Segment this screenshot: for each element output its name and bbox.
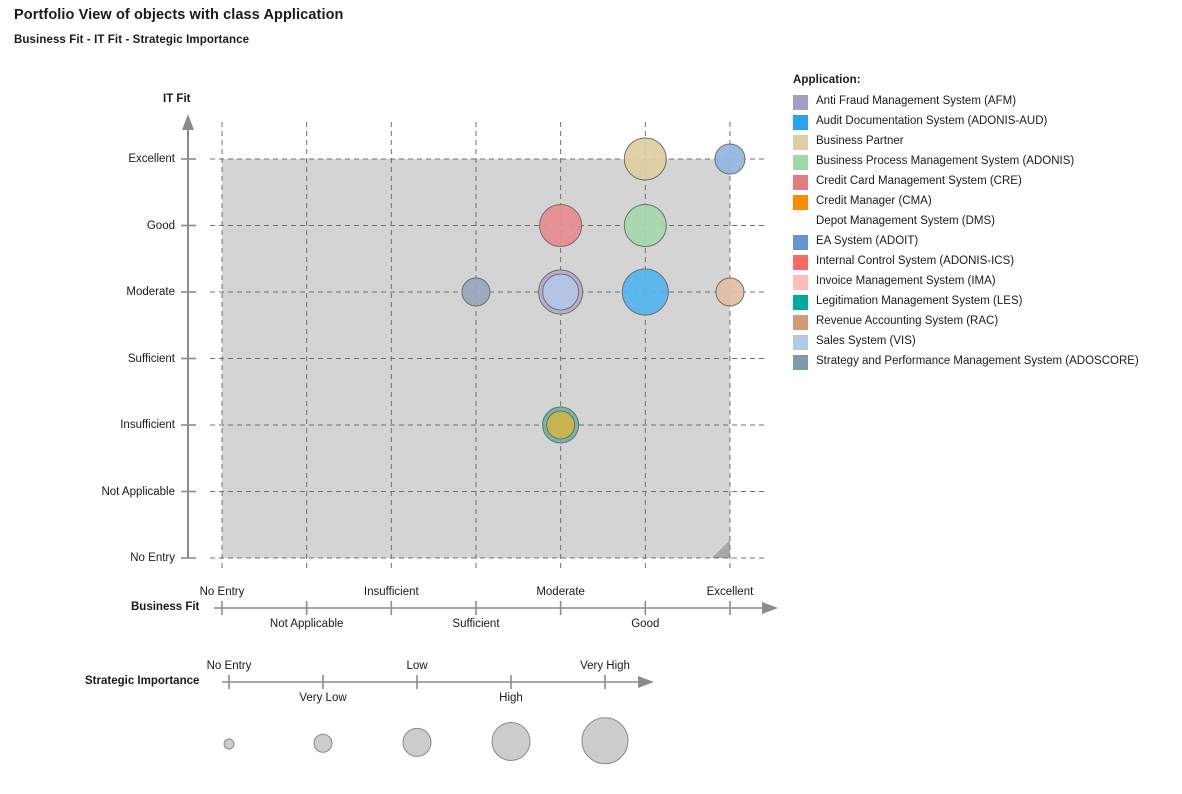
strategic-importance-tick-label: Very High [580,660,630,672]
legend-color-swatch [793,95,808,110]
size-legend-bubbles [224,718,628,764]
legend-item[interactable]: Credit Manager (CMA) [793,192,1173,212]
it-fit-tick-label: Moderate [126,286,175,298]
strategic-importance-tick-label: No Entry [207,660,252,672]
it-fit-tick-label: No Entry [130,552,175,564]
chart-bubble[interactable]: Strategy and Performance Management Syst… [462,278,490,306]
application-legend: Application: Anti Fraud Management Syste… [793,74,1173,372]
strategic-importance-axis-title: Strategic Importance [85,675,199,687]
it-fit-tick-label: Sufficient [128,353,175,365]
legend-color-swatch [793,335,808,350]
it-fit-tick-label: Excellent [128,153,175,165]
legend-item[interactable]: Business Partner [793,132,1173,152]
size-legend-bubble [224,739,234,749]
business-fit-axis-line-group [214,602,778,614]
page-subtitle: Business Fit - IT Fit - Strategic Import… [14,34,249,46]
it-fit-axis-arrow [182,114,194,130]
legend-item-label: Invoice Management System (IMA) [816,276,996,288]
legend-item[interactable]: Internal Control System (ADONIS-ICS) [793,252,1173,272]
legend-item[interactable]: Business Process Management System (ADON… [793,152,1173,172]
legend-color-swatch [793,295,808,310]
legend-item[interactable]: Invoice Management System (IMA) [793,272,1173,292]
legend-item[interactable]: Sales System (VIS) [793,332,1173,352]
business-fit-tick-label: Good [631,618,659,630]
legend-color-swatch [793,235,808,250]
strategic-importance-tick-label: High [499,692,523,704]
legend-color-swatch [793,275,808,290]
legend-color-swatch [793,255,808,270]
legend-title: Application: [793,74,1173,86]
legend-item[interactable]: EA System (ADOIT) [793,232,1173,252]
legend-item-label: Internal Control System (ADONIS-ICS) [816,256,1014,268]
strategic-importance-axis-line-group [222,676,654,688]
legend-color-swatch [793,215,808,230]
chart-bubble[interactable]: Business Process Management System (ADON… [624,205,666,247]
legend-color-swatch [793,355,808,370]
strategic-importance-tick-label: Very Low [299,692,346,704]
strategic-importance-axis-arrow [638,676,654,688]
legend-color-swatch [793,195,808,210]
legend-item[interactable]: Depot Management System (DMS) [793,212,1173,232]
legend-item[interactable]: Legitimation Management System (LES) [793,292,1173,312]
legend-item-label: Credit Card Management System (CRE) [816,176,1022,188]
legend-item-label: Sales System (VIS) [816,336,916,348]
legend-item-label: Audit Documentation System (ADONIS-AUD) [816,116,1047,128]
business-fit-axis-arrow [762,602,778,614]
legend-item-label: Business Partner [816,136,904,148]
chart-bubble[interactable]: Audit Documentation System (ADONIS-AUD) [622,269,668,315]
legend-item-label: Strategy and Performance Management Syst… [816,356,1139,368]
legend-item-label: Revenue Accounting System (RAC) [816,316,998,328]
it-fit-tick-label: Not Applicable [101,486,175,498]
legend-color-swatch [793,115,808,130]
size-legend-bubble [314,734,332,752]
chart-bubble[interactable]: Sales System (VIS) [543,274,579,310]
legend-item[interactable]: Revenue Accounting System (RAC) [793,312,1173,332]
chart-bubble[interactable]: Business Partner [624,138,666,180]
legend-item-label: Credit Manager (CMA) [816,196,932,208]
chart-bubble[interactable]: EA System (ADOIT) [715,144,745,174]
size-legend-bubble [492,722,530,760]
business-fit-axis-title: Business Fit [131,601,199,613]
business-fit-tick-label: Sufficient [452,618,499,630]
strategic-importance-tick-label: Low [406,660,427,672]
legend-color-swatch [793,155,808,170]
legend-color-swatch [793,315,808,330]
page-title: Portfolio View of objects with class App… [14,7,344,23]
chart-bubble[interactable]: Depot Management System (DMS) [547,411,575,439]
legend-item[interactable]: Strategy and Performance Management Syst… [793,352,1173,372]
legend-items: Anti Fraud Management System (AFM)Audit … [793,92,1173,372]
it-fit-tick-label: Good [147,220,175,232]
legend-item-label: Depot Management System (DMS) [816,216,995,228]
business-fit-tick-label: Not Applicable [270,618,344,630]
business-fit-tick-label: Moderate [536,586,585,598]
legend-item[interactable]: Credit Card Management System (CRE) [793,172,1173,192]
chart-bubble[interactable]: Revenue Accounting System (RAC) [716,278,744,306]
legend-item-label: Business Process Management System (ADON… [816,156,1074,168]
legend-item[interactable]: Audit Documentation System (ADONIS-AUD) [793,112,1173,132]
business-fit-tick-label: Insufficient [364,586,419,598]
legend-color-swatch [793,135,808,150]
legend-item-label: Legitimation Management System (LES) [816,296,1022,308]
size-legend-bubble [403,728,431,756]
business-fit-tick-label: Excellent [707,586,754,598]
legend-item-label: EA System (ADOIT) [816,236,918,248]
size-legend-bubble [582,718,628,764]
legend-color-swatch [793,175,808,190]
legend-item[interactable]: Anti Fraud Management System (AFM) [793,92,1173,112]
business-fit-tick-label: No Entry [200,586,245,598]
chart-bubble[interactable]: Credit Card Management System (CRE) [540,205,582,247]
legend-item-label: Anti Fraud Management System (AFM) [816,96,1016,108]
it-fit-tick-label: Insufficient [120,419,175,431]
it-fit-axis-title: IT Fit [163,93,190,105]
